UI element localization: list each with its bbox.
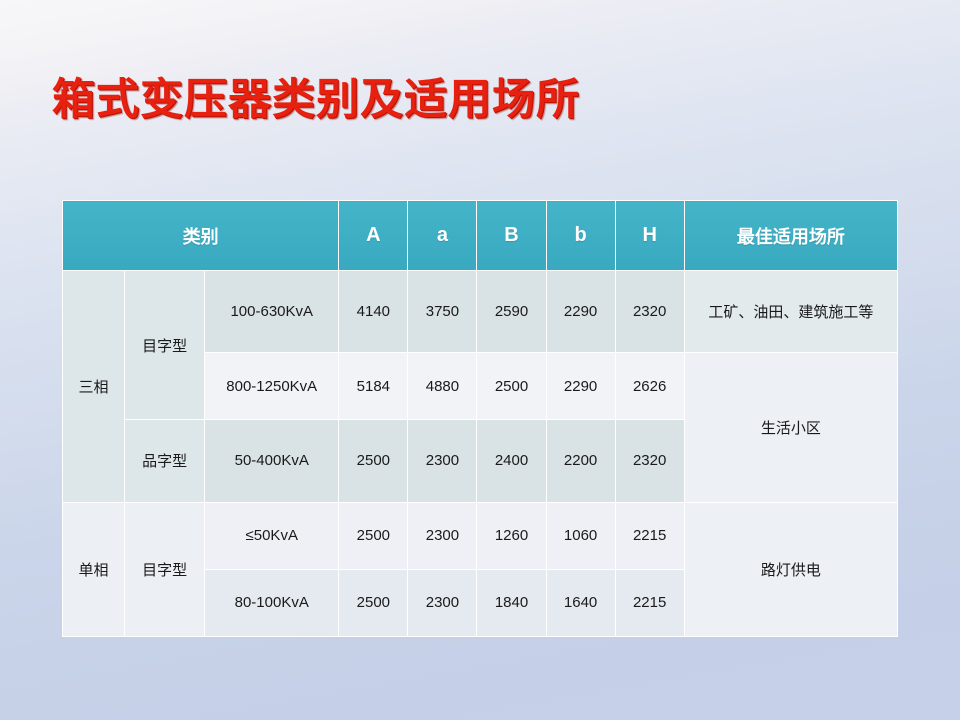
table-header: 类别 A a B b H 最佳适用场所 (63, 201, 898, 271)
cell-place-residential: 生活小区 (684, 353, 897, 502)
cell-a: 2300 (408, 420, 477, 502)
cell-B: 1840 (477, 569, 546, 636)
cell-B: 2400 (477, 420, 546, 502)
cell-b: 2290 (546, 353, 615, 420)
cell-kva: 100-630KvA (205, 271, 339, 353)
cell-shape-pin: 品字型 (125, 420, 205, 502)
cell-H: 2626 (615, 353, 684, 420)
page-title: 箱式变压器类别及适用场所 (52, 72, 580, 128)
table-header-row: 类别 A a B b H 最佳适用场所 (63, 201, 898, 271)
table-row: 单相 目字型 ≤50KvA 2500 2300 1260 1060 2215 路… (63, 502, 898, 569)
cell-H: 2320 (615, 420, 684, 502)
cell-kva: 50-400KvA (205, 420, 339, 502)
cell-phase-three: 三相 (63, 271, 125, 503)
header-H: H (615, 201, 684, 271)
cell-H: 2320 (615, 271, 684, 353)
cell-H: 2215 (615, 569, 684, 636)
table-body: 三相 目字型 100-630KvA 4140 3750 2590 2290 23… (63, 271, 898, 637)
cell-B: 2590 (477, 271, 546, 353)
cell-A: 2500 (339, 502, 408, 569)
header-place: 最佳适用场所 (684, 201, 897, 271)
cell-B: 2500 (477, 353, 546, 420)
cell-b: 2290 (546, 271, 615, 353)
cell-A: 4140 (339, 271, 408, 353)
cell-a: 2300 (408, 569, 477, 636)
cell-A: 2500 (339, 569, 408, 636)
transformer-spec-table: 类别 A a B b H 最佳适用场所 三相 目字型 100-630KvA 41… (62, 200, 898, 637)
cell-b: 2200 (546, 420, 615, 502)
cell-b: 1640 (546, 569, 615, 636)
cell-A: 5184 (339, 353, 408, 420)
cell-shape-mu-2: 目字型 (125, 502, 205, 636)
cell-kva: 80-100KvA (205, 569, 339, 636)
cell-place-industrial: 工矿、油田、建筑施工等 (684, 271, 897, 353)
cell-a: 2300 (408, 502, 477, 569)
table-row: 三相 目字型 100-630KvA 4140 3750 2590 2290 23… (63, 271, 898, 353)
cell-kva: 800-1250KvA (205, 353, 339, 420)
header-a: a (408, 201, 477, 271)
spec-table-container: 类别 A a B b H 最佳适用场所 三相 目字型 100-630KvA 41… (62, 200, 898, 637)
header-B: B (477, 201, 546, 271)
cell-phase-single: 单相 (63, 502, 125, 636)
cell-a: 4880 (408, 353, 477, 420)
header-b: b (546, 201, 615, 271)
cell-place-streetlight: 路灯供电 (684, 502, 897, 636)
cell-A: 2500 (339, 420, 408, 502)
slide-canvas: 箱式变压器类别及适用场所 类别 A a B b (0, 0, 960, 720)
cell-kva: ≤50KvA (205, 502, 339, 569)
header-category: 类别 (63, 201, 339, 271)
cell-H: 2215 (615, 502, 684, 569)
header-A: A (339, 201, 408, 271)
cell-shape-mu-1: 目字型 (125, 271, 205, 420)
cell-a: 3750 (408, 271, 477, 353)
cell-B: 1260 (477, 502, 546, 569)
cell-b: 1060 (546, 502, 615, 569)
